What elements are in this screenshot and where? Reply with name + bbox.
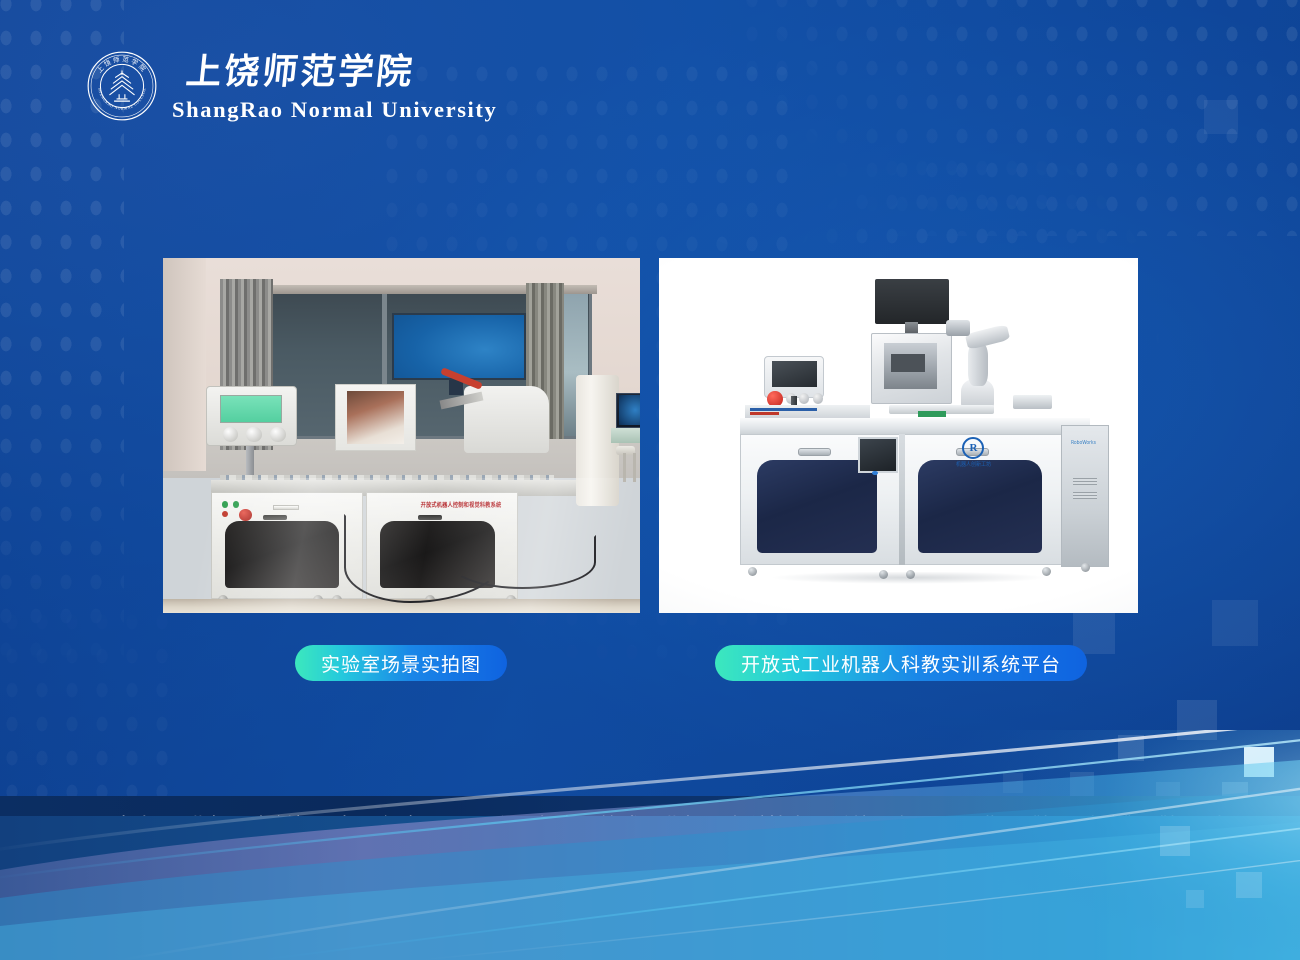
decor-square <box>1212 600 1258 646</box>
caption-pill-lab-scene[interactable]: 实验室场景实拍图 <box>295 645 507 681</box>
control-cabinet-brand-text: RoboWorks <box>1071 441 1096 447</box>
university-name-en: ShangRao Normal University <box>172 97 497 123</box>
product-vent-grille <box>1073 492 1097 499</box>
university-seal-icon: 上饶师范学院 SHANGRAO NORMAL COLLEGE <box>86 50 158 122</box>
product-touch-terminal <box>858 437 899 473</box>
cabinet-brand-r-icon: R <box>962 437 984 459</box>
product-robot-wrist <box>946 320 970 336</box>
dot-matrix-pattern-top-right <box>740 0 1300 236</box>
product-terminal-block <box>918 411 947 416</box>
lab-hmi-button <box>223 427 238 442</box>
lab-desk <box>611 428 640 442</box>
product-robot-lower-arm <box>968 343 988 386</box>
svg-text:上饶师范学院: 上饶师范学院 <box>184 51 416 92</box>
lab-hmi-button <box>270 427 285 442</box>
lab-enclosure-glass <box>347 391 404 444</box>
decor-square <box>1118 735 1144 761</box>
lab-floor-reflection <box>163 478 640 613</box>
lab-monitor-screen <box>394 315 524 378</box>
product-render-illustration: R 机器人创新工坊 RoboWorks <box>659 258 1138 613</box>
cabinet-brand-text: 机器人创新工坊 <box>956 461 991 469</box>
lab-wall-monitor <box>392 313 526 380</box>
decor-square <box>1070 772 1094 796</box>
cabinet-brand-badge: R 机器人创新工坊 <box>956 437 991 468</box>
decor-square <box>1204 100 1238 134</box>
product-ground-shadow <box>726 572 1090 586</box>
product-cabinet-window <box>918 460 1043 552</box>
lab-hmi-screen <box>220 395 282 423</box>
product-vent-grille <box>1073 478 1097 485</box>
lab-scene-photo: 开放式机器人控制和视觉科教系统 <box>163 258 640 613</box>
lab-wall-corner <box>163 258 206 471</box>
product-gripper-fixture <box>1013 395 1051 409</box>
product-feeder-accent-red <box>750 412 779 415</box>
product-hmi-button <box>799 393 809 404</box>
decor-square <box>1003 773 1023 793</box>
decor-square <box>1244 747 1274 777</box>
product-feeder-accent <box>750 408 817 411</box>
decor-square <box>1177 700 1217 740</box>
lab-hmi-button <box>246 427 261 442</box>
lab-desktop-monitor-screen <box>619 395 640 425</box>
product-cabinet-handle <box>798 448 832 456</box>
description-paragraph: 本次“工业机器人创新研究平台建设项目”主要包含开放式工业机器人科教实训系统平台，… <box>72 812 1230 901</box>
university-wordmark: 上饶师范学院 ShangRao Normal University <box>172 48 497 123</box>
product-render-photo: R 机器人创新工坊 RoboWorks <box>659 258 1138 613</box>
university-name-cn-calligraphy: 上饶师范学院 <box>172 48 497 94</box>
caption-pill-platform[interactable]: 开放式工业机器人科教实训系统平台 <box>715 645 1087 681</box>
dot-matrix-pattern-lower-left <box>0 540 180 840</box>
presentation-slide: 上饶师范学院 SHANGRAO NORMAL COLLEGE 上饶师范学院 <box>0 0 1300 960</box>
product-cabinet-divider <box>899 434 906 565</box>
product-display-monitor <box>875 279 949 323</box>
product-enclosure-camera <box>891 354 925 372</box>
product-cabinet-window <box>757 460 877 552</box>
product-hmi-screen <box>772 361 818 387</box>
university-logo: 上饶师范学院 SHANGRAO NORMAL COLLEGE 上饶师范学院 <box>86 48 497 123</box>
product-hmi-button <box>813 393 823 404</box>
paragraph-text: 本次“工业机器人创新研究平台建设项目”主要包含开放式工业机器人科教实训系统平台，… <box>72 814 1230 897</box>
product-caster <box>1081 563 1090 572</box>
product-monitor-mount <box>905 322 917 333</box>
